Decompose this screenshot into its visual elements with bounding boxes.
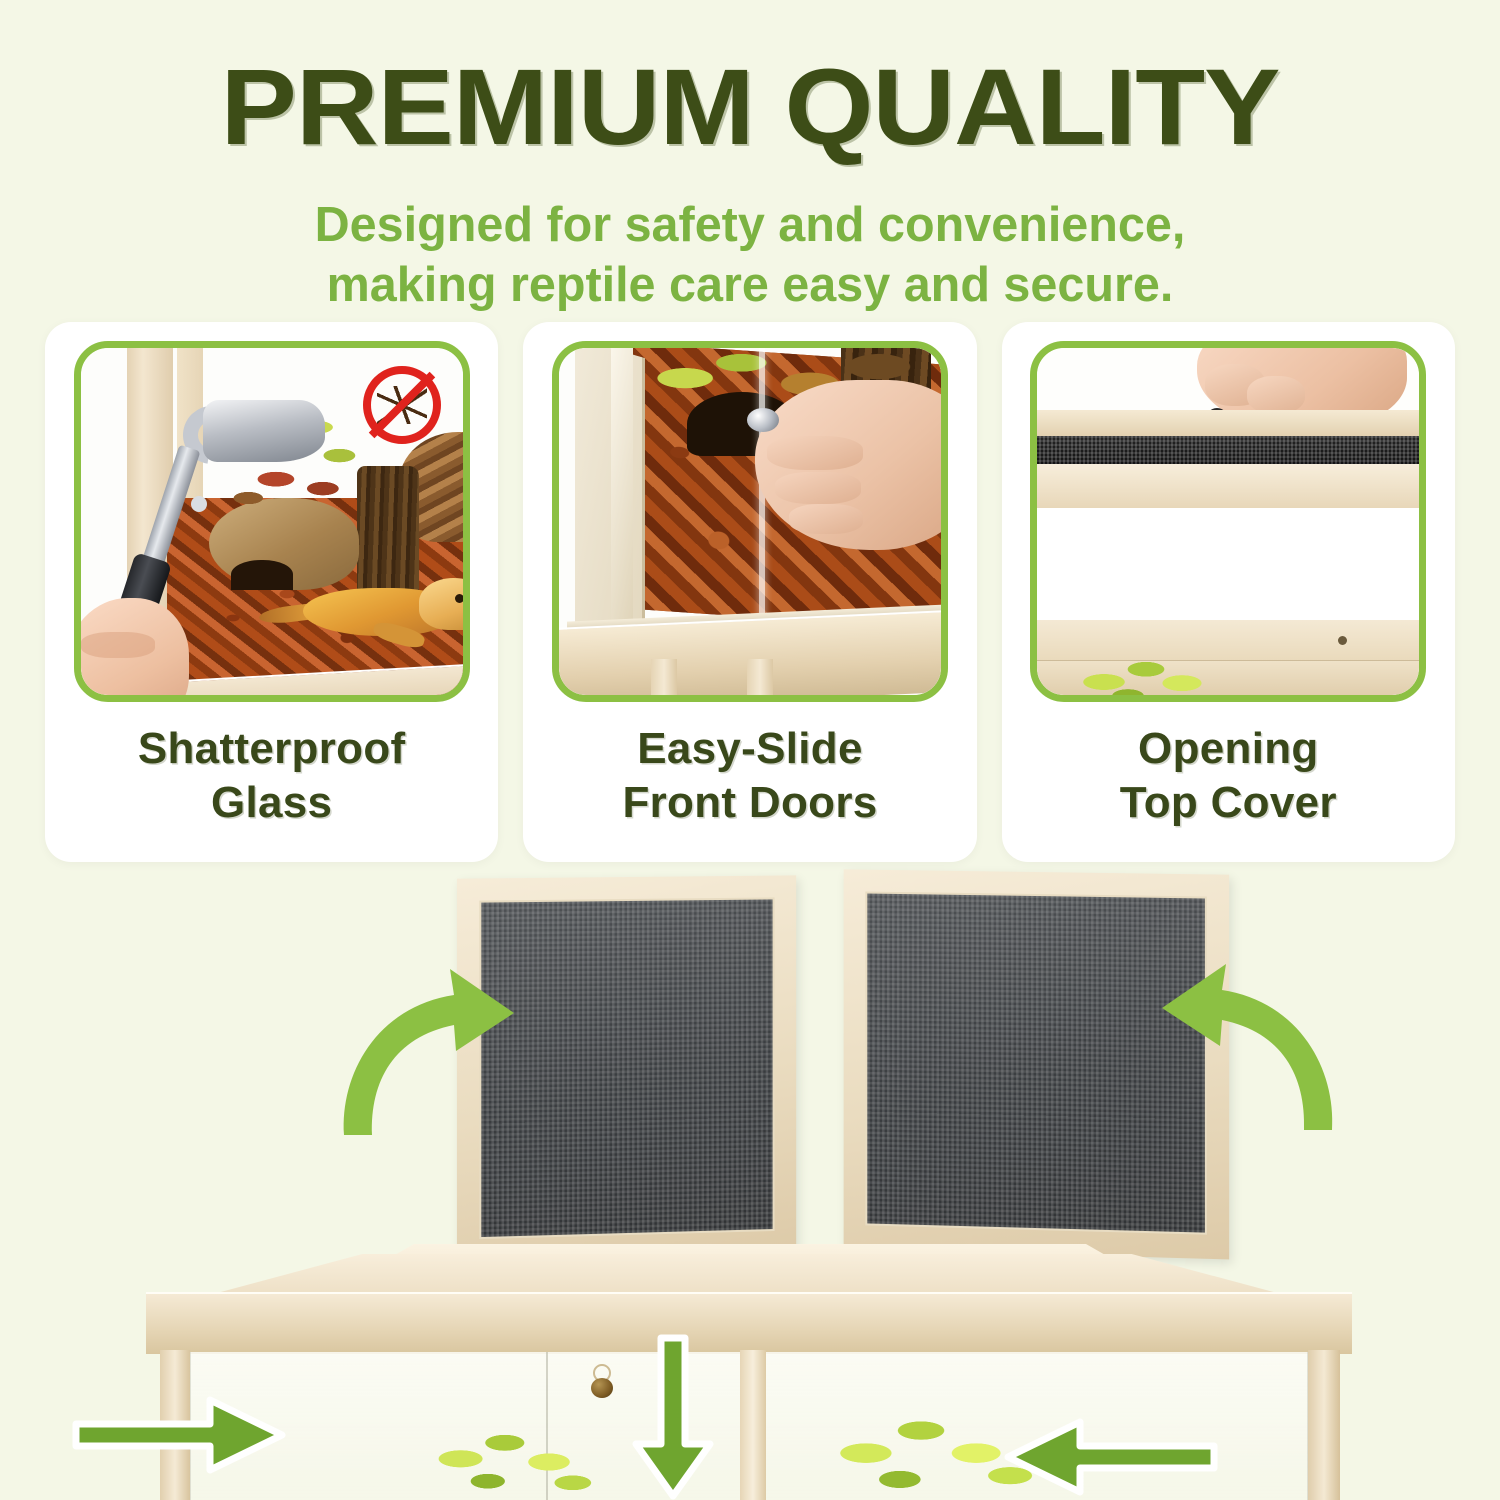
easy-slide-doors-photo <box>559 348 941 695</box>
subtitle-line-2: making reptile care easy and secure. <box>8 256 1493 316</box>
door-knob-icon <box>591 1378 613 1398</box>
marketing-infographic: PREMIUM QUALITY Designed for safety and … <box>0 0 1500 1500</box>
feature-card-opening-top-cover: Opening Top Cover <box>1002 322 1455 862</box>
curved-arrow-to-right-lid <box>1140 950 1340 1135</box>
feature-label-shatterproof-glass: Shatterproof Glass <box>57 722 487 829</box>
label-line-2: Glass <box>57 776 487 830</box>
page-subtitle: Designed for safety and convenience, mak… <box>8 196 1493 316</box>
open-glass-door <box>575 348 645 648</box>
label-line-2: Front Doors <box>535 776 965 830</box>
artificial-plant-left <box>430 1422 600 1500</box>
terrarium-leg-right <box>1308 1350 1340 1500</box>
feature-photo-frame <box>552 341 948 702</box>
wood-rail-upper <box>1037 464 1419 508</box>
label-line-1: Easy-Slide <box>637 724 863 773</box>
arrow-pointing-left-at-right-side-panel <box>1000 1412 1220 1500</box>
feature-label-opening-top-cover: Opening Top Cover <box>1013 722 1443 829</box>
feature-photo-frame <box>1030 341 1426 702</box>
black-mesh-cover <box>1037 436 1419 466</box>
feature-photo-frame <box>74 341 470 702</box>
terrarium-front-rail <box>146 1292 1352 1354</box>
terrarium-leg-center <box>740 1350 766 1500</box>
terrarium-leg <box>651 659 677 695</box>
feature-label-easy-slide-front-doors: Easy-Slide Front Doors <box>535 722 965 829</box>
subtitle-line-1: Designed for safety and convenience, <box>315 198 1186 252</box>
shatterproof-glass-photo <box>81 348 463 695</box>
door-knob-icon <box>747 408 779 432</box>
terrarium-leg <box>747 659 773 695</box>
page-title: PREMIUM QUALITY <box>0 52 1500 162</box>
no-crack-icon <box>363 366 441 444</box>
label-line-1: Opening <box>1138 724 1319 773</box>
artificial-plant-decor <box>1071 653 1221 695</box>
glass-door-edge <box>611 348 633 644</box>
label-line-1: Shatterproof <box>138 724 406 773</box>
label-line-2: Top Cover <box>1013 776 1443 830</box>
arrow-pointing-right-at-left-side-panel <box>70 1390 290 1480</box>
curved-arrow-to-left-lid <box>336 955 536 1140</box>
feature-card-shatterproof-glass: Shatterproof Glass <box>45 322 498 862</box>
arrow-pointing-down-at-front-doors <box>628 1332 718 1500</box>
feature-card-row: Shatterproof Glass <box>45 322 1455 862</box>
feature-card-easy-slide-front-doors: Easy-Slide Front Doors <box>523 322 976 862</box>
opening-top-cover-photo <box>1037 348 1419 695</box>
